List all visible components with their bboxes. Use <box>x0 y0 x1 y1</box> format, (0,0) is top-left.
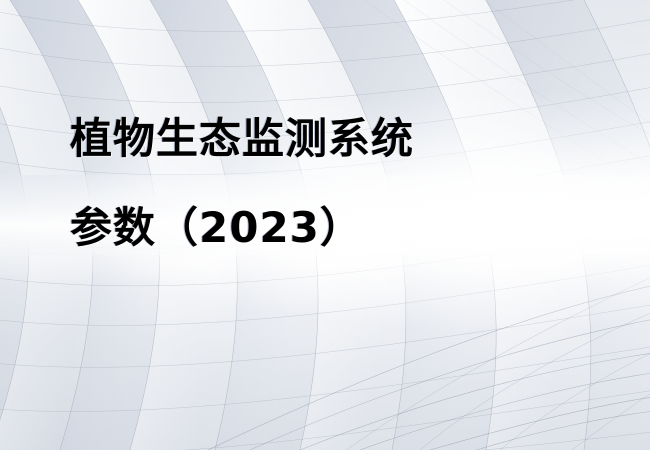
slide-title-line-2: 参数（2023） <box>70 207 590 249</box>
slide-title-line-1: 植物生态监测系统 <box>70 118 590 160</box>
title-slide: 植物生态监测系统 参数（2023） <box>0 0 650 450</box>
slide-title: 植物生态监测系统 参数（2023） <box>70 118 590 249</box>
